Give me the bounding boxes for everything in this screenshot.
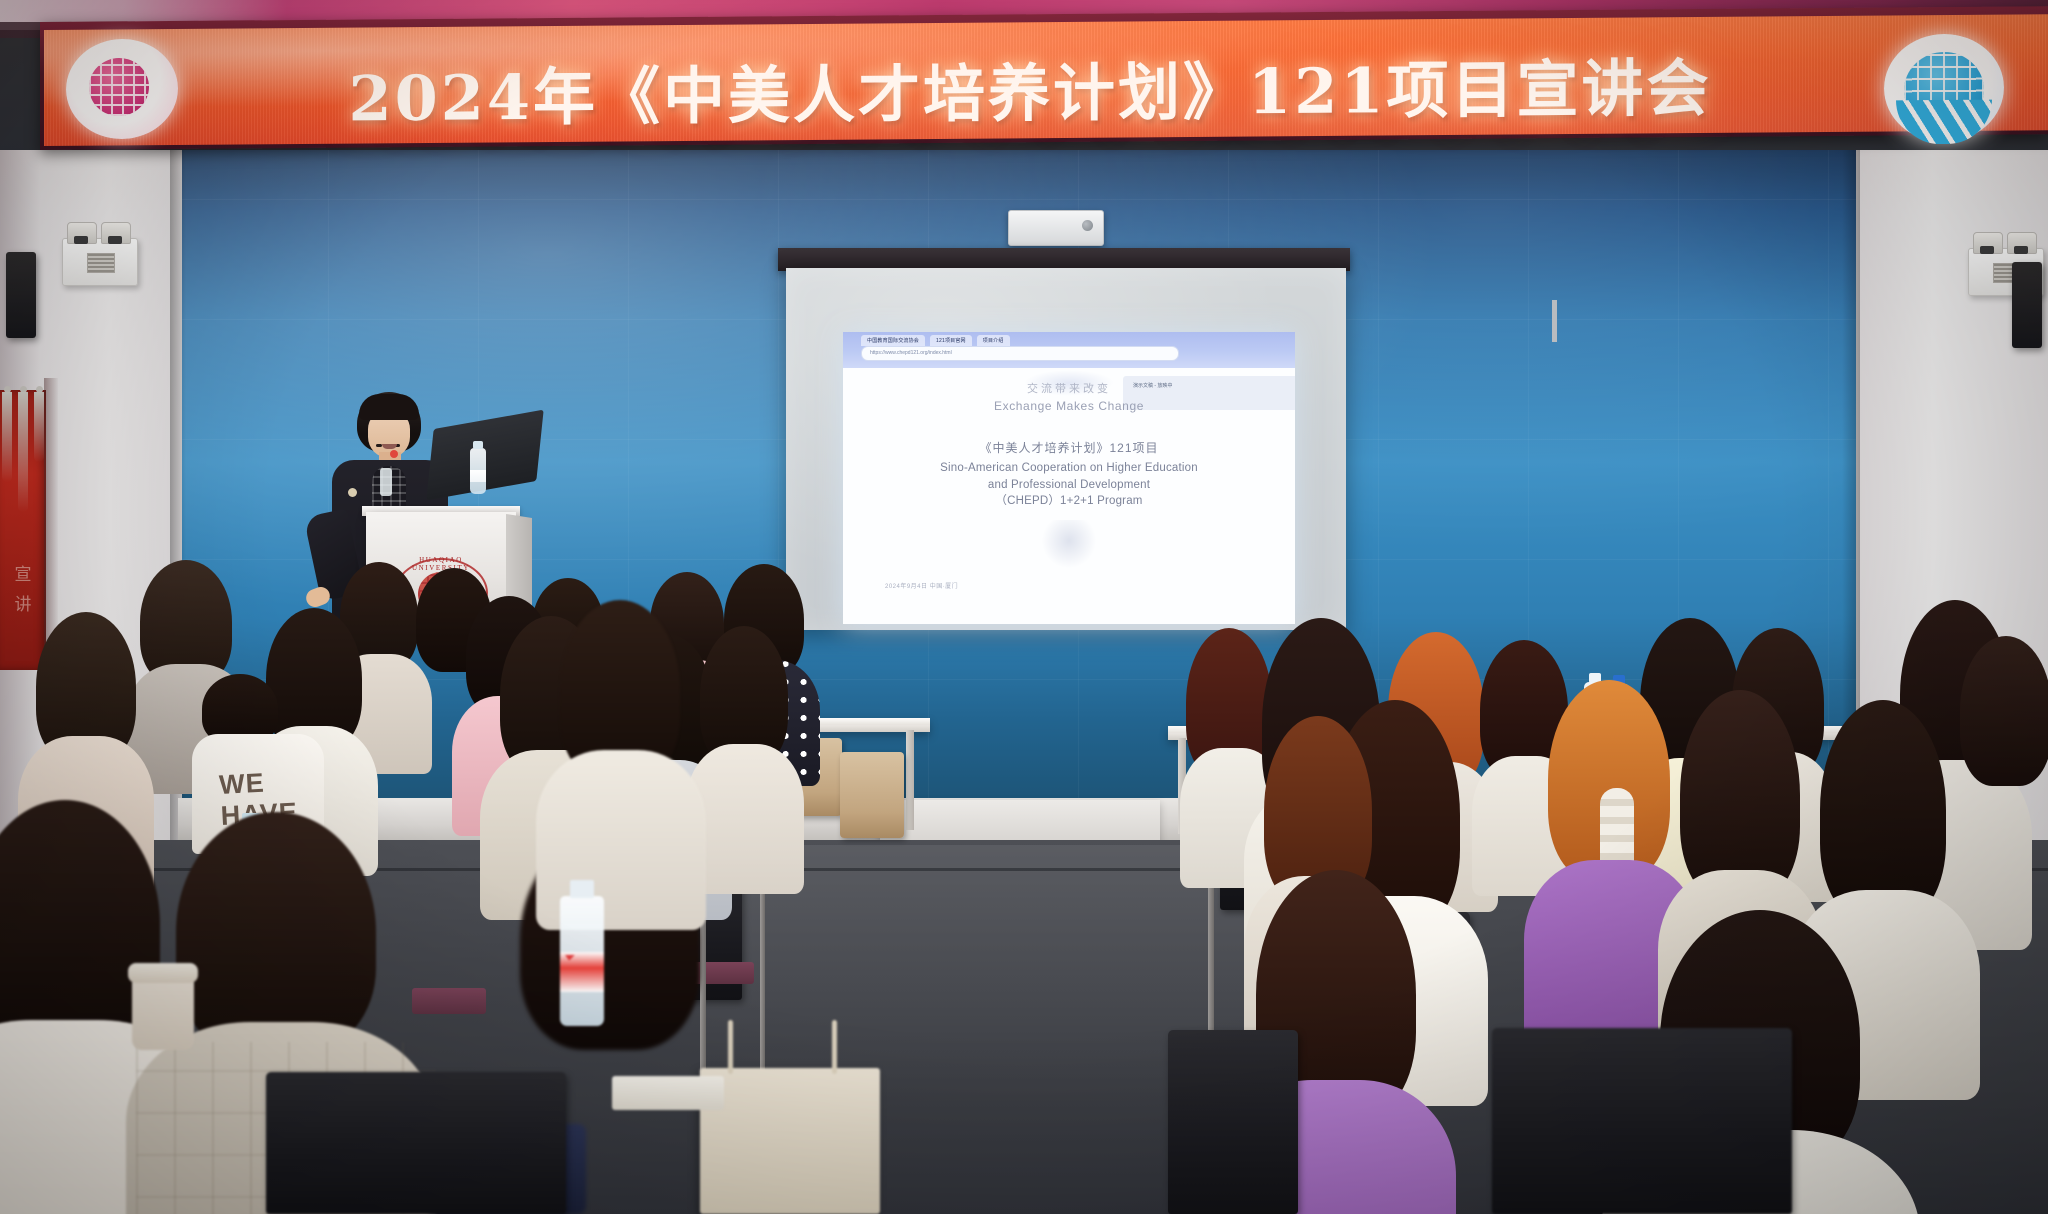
browser-tabs: 中国教育国际交流协会 121项目官网 项目介绍 <box>861 335 1010 346</box>
globe-emblem-icon <box>1878 29 2010 146</box>
clip-microphone-icon <box>390 450 398 458</box>
browser-tab-2: 121项目官网 <box>930 335 972 346</box>
slide-title-en-line1: Sino-American Cooperation on Higher Educ… <box>843 460 1295 477</box>
coffee-cup <box>132 972 194 1050</box>
ceiling-projector-icon <box>1008 210 1104 246</box>
tote-bag <box>700 1068 880 1214</box>
chair-frame <box>760 880 765 1080</box>
slide-content: 交流带来改变 Exchange Makes Change 《中美人才培养计划》1… <box>843 380 1295 510</box>
presenter-fringe <box>359 394 419 420</box>
table-leg <box>906 730 914 830</box>
browser-tab-1: 中国教育国际交流协会 <box>861 335 925 346</box>
wall-speaker-right <box>2012 262 2042 348</box>
chair <box>1168 1030 1298 1214</box>
wall-sensor <box>1552 300 1557 342</box>
wooden-chair <box>840 752 904 838</box>
slide-title-en-line2: and Professional Development <box>843 477 1295 494</box>
slide-footer-date: 2024年9月4日 中国·厦门 <box>885 581 958 590</box>
slide-title-en-line3: （CHEPD）1+2+1 Program <box>843 493 1295 510</box>
chair-seat <box>412 988 486 1014</box>
browser-address-bar: https://www.chepd121.org/index.html <box>861 346 1179 361</box>
lecture-hall-scene: 宣 讲 2024年《中美人才培养计划》121项目宣讲会 中国教育国际交流协会 <box>0 0 2048 1214</box>
podium-water-bottle <box>470 448 486 494</box>
chair <box>266 1072 566 1214</box>
slide-subtitle-en: Exchange Makes Change <box>843 399 1295 413</box>
podium-logo-text: HUAQIAO UNIVERSITY <box>394 556 488 572</box>
slide-title-cn: 《中美人才培养计划》121项目 <box>843 439 1295 456</box>
water-bottle <box>560 896 604 1026</box>
slide-emblem-icon <box>1038 520 1100 572</box>
projected-browser-window: 中国教育国际交流协会 121项目官网 项目介绍 https://www.chep… <box>843 332 1295 624</box>
podium-small-bottle <box>380 468 392 496</box>
lapel-pin-icon <box>348 488 357 497</box>
huaqiao-university-seal-icon <box>62 36 182 143</box>
slide-subtitle-cn: 交流带来改变 <box>843 380 1295 396</box>
red-hanging-banner: 宣 讲 <box>0 390 46 670</box>
emergency-light-fixture-left <box>62 238 138 286</box>
chair <box>1492 1028 1792 1214</box>
banner-headline: 2024年《中美人才培养计划》121项目宣讲会 <box>250 34 1810 142</box>
browser-tab-3: 项目介绍 <box>977 335 1010 346</box>
wall-speaker-left <box>6 252 36 338</box>
notebook <box>612 1076 724 1110</box>
